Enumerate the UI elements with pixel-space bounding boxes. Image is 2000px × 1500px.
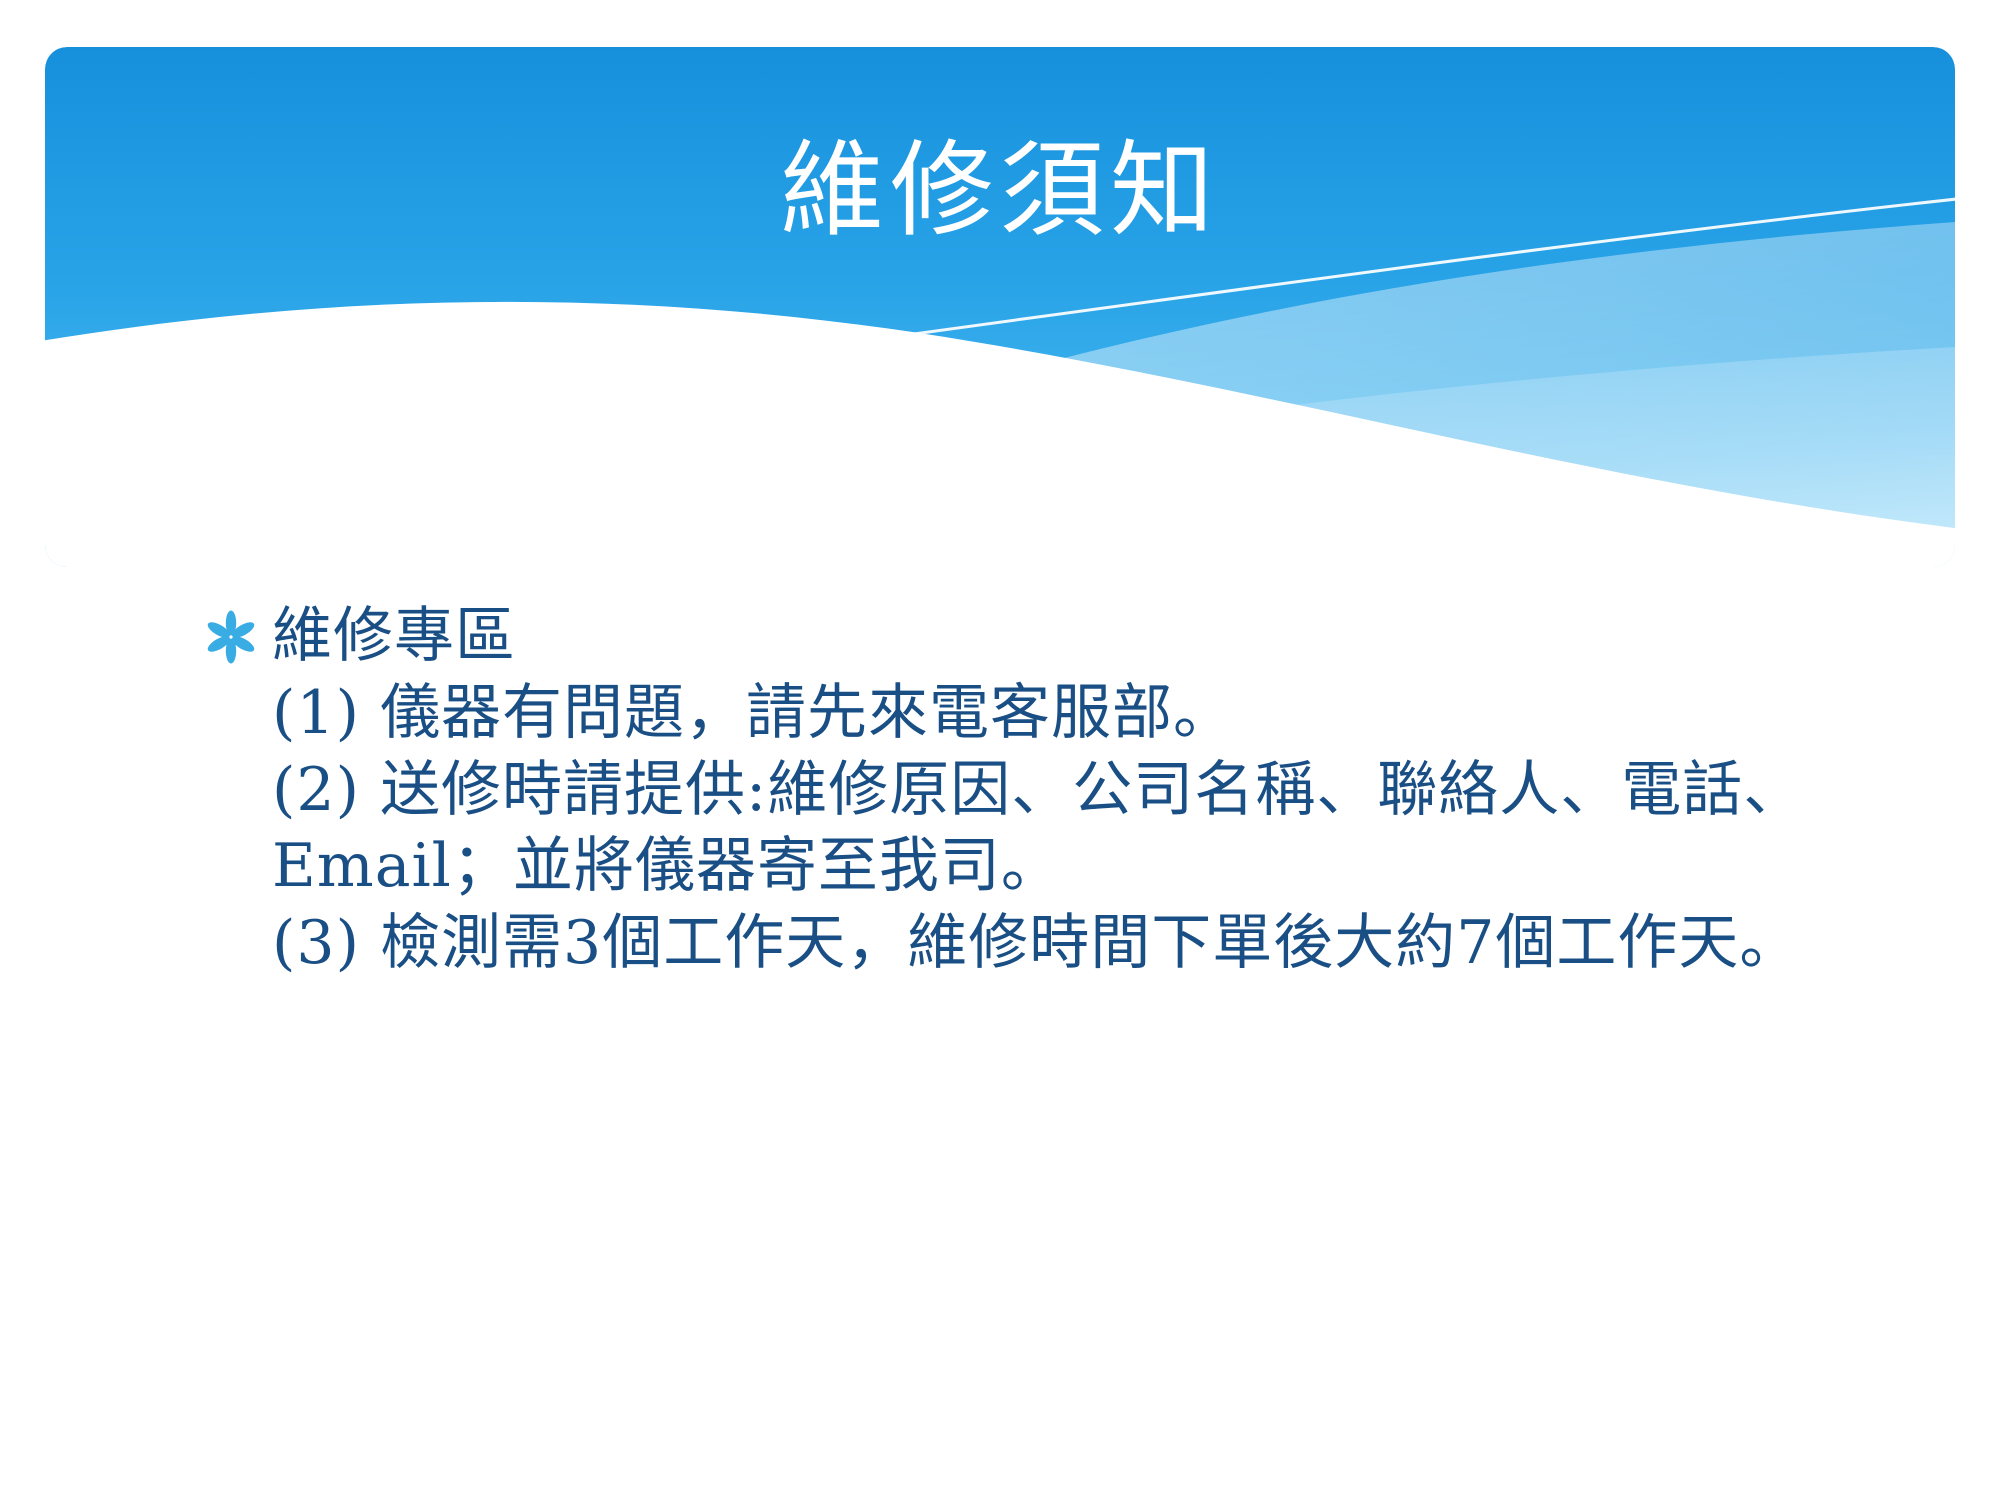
content-line-1: (1) 儀器有問題，請先來電客服部。 xyxy=(200,675,1840,752)
bullet-item-primary: 維修專區 xyxy=(200,598,1840,675)
slide-canvas: 維修須知 維修專區 xyxy=(0,0,2000,1500)
bullet-item-label: 維修專區 xyxy=(268,598,516,675)
content-body: 維修專區 (1) 儀器有問題，請先來電客服部。 (2) 送修時請提供:維修原因、… xyxy=(200,598,1840,982)
header-banner xyxy=(45,47,1955,567)
content-line-3: (3) 檢測需3個工作天，維修時間下單後大約7個工作天。 xyxy=(200,905,1840,982)
content-line-2: (2) 送修時請提供:維修原因、公司名稱、聯絡人、電話、Email；並將儀器寄至… xyxy=(200,752,1840,906)
page-title: 維修須知 xyxy=(0,132,2000,248)
header-banner-graphic xyxy=(45,47,1955,567)
asterisk-star-icon xyxy=(200,606,262,668)
